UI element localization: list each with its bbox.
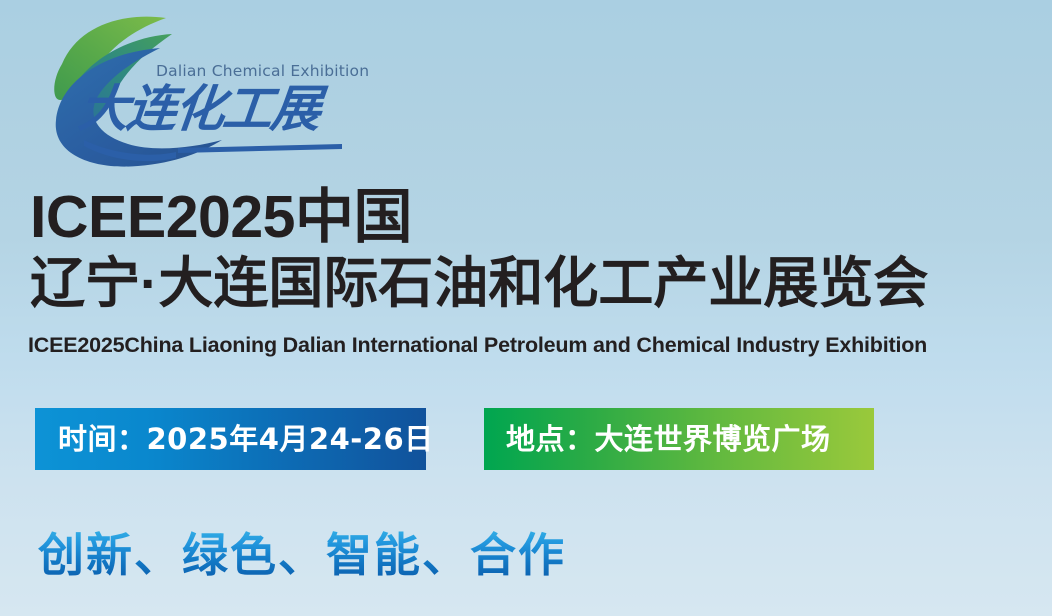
page-title-line-2: 辽宁·大连国际石油和化工产业展览会 bbox=[30, 250, 928, 316]
venue-badge-label: 地点：大连世界博览广场 bbox=[506, 408, 831, 470]
logo-block: Dalian Chemical Exhibition 大连化工展 bbox=[26, 8, 356, 173]
venue-badge: 地点：大连世界博览广场 bbox=[484, 408, 874, 470]
slogan-text: 创新、绿色、智能、合作 bbox=[38, 526, 566, 584]
page-title-line-1: ICEE2025中国 bbox=[30, 183, 412, 251]
date-badge-label: 时间：2025年4月24-26日 bbox=[58, 408, 434, 470]
page-subtitle-english: ICEE2025China Liaoning Dalian Internatio… bbox=[28, 332, 927, 358]
exhibition-poster: Dalian Chemical Exhibition 大连化工展 ICEE202… bbox=[0, 0, 1052, 616]
logo-english-name: Dalian Chemical Exhibition bbox=[156, 62, 369, 80]
info-badge-row: 时间：2025年4月24-26日 地点：大连世界博览广场 bbox=[0, 408, 1052, 470]
dalian-chemical-exhibition-logo-icon bbox=[26, 8, 356, 173]
date-badge: 时间：2025年4月24-26日 bbox=[35, 408, 426, 470]
